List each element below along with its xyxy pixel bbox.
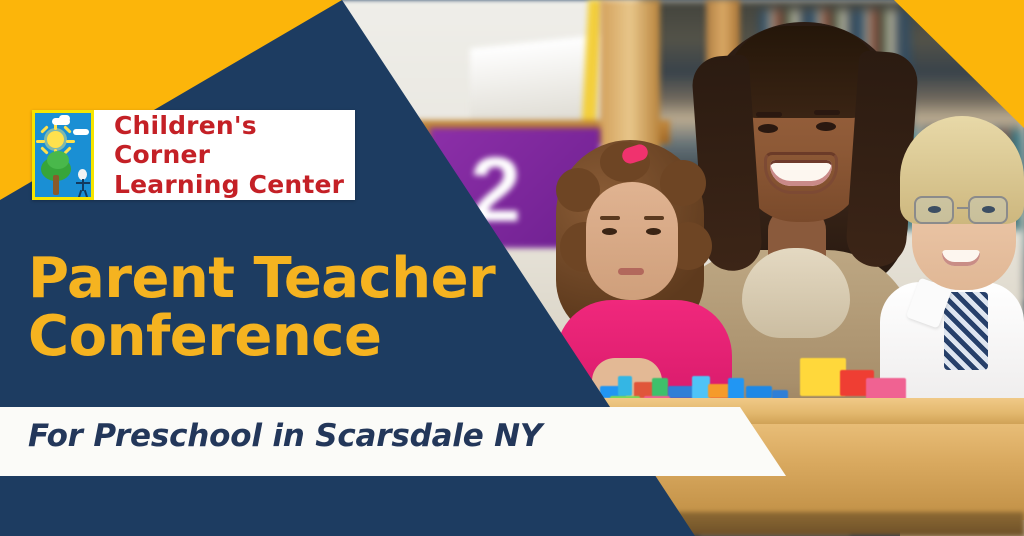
sun-ray-left bbox=[36, 140, 45, 143]
teacher-smile bbox=[770, 160, 832, 186]
teacher-scarf bbox=[742, 248, 850, 338]
sun-ray-tr bbox=[63, 125, 71, 133]
page-title-line-2: Conference bbox=[28, 308, 648, 366]
child-tree-sun-drawing-icon bbox=[32, 110, 94, 200]
girl-brow-right bbox=[644, 216, 664, 220]
stick-figure-icon-arms bbox=[76, 182, 90, 184]
page-title-line-1: Parent Teacher bbox=[28, 250, 648, 308]
stick-figure-icon-body bbox=[82, 179, 84, 191]
girl-eye-left bbox=[602, 228, 617, 235]
cloud-icon-3 bbox=[73, 129, 89, 135]
stick-figure-icon-leg-left bbox=[78, 190, 82, 197]
boy-eye-left bbox=[928, 206, 941, 213]
page-subtitle: For Preschool in Scarsdale NY bbox=[28, 418, 542, 454]
sun-ray-bl bbox=[40, 146, 48, 154]
girl-eye-right bbox=[646, 228, 661, 235]
sun-icon bbox=[47, 131, 64, 148]
teacher-brow-left bbox=[756, 112, 782, 117]
logo-wordmark: Children's Corner Learning Center bbox=[94, 110, 355, 200]
teacher-eye-left bbox=[758, 124, 778, 133]
logo-line-1: Children's Corner bbox=[114, 111, 355, 170]
logo[interactable]: Children's Corner Learning Center bbox=[32, 110, 355, 200]
sun-ray-right bbox=[66, 140, 75, 143]
teacher-brow-right bbox=[814, 110, 840, 115]
teacher-eye-right bbox=[816, 122, 836, 131]
stick-figure-icon-leg-right bbox=[84, 190, 88, 197]
cloud-icon-2 bbox=[59, 115, 70, 122]
boy-eye-right bbox=[982, 206, 995, 213]
boy-mouth bbox=[942, 250, 980, 266]
tree-icon-crown-top bbox=[47, 151, 69, 169]
logo-line-2: Learning Center bbox=[114, 170, 355, 200]
boy-patterned-tie bbox=[944, 292, 988, 370]
logo-sky bbox=[35, 113, 91, 197]
girl-brow-left bbox=[600, 216, 620, 220]
tree-icon-trunk bbox=[53, 175, 59, 195]
boy-glasses-bridge bbox=[957, 207, 969, 209]
page-title: Parent Teacher Conference bbox=[28, 250, 648, 365]
promo-banner: 2 bbox=[0, 0, 1024, 536]
sun-ray-tl bbox=[40, 125, 48, 133]
